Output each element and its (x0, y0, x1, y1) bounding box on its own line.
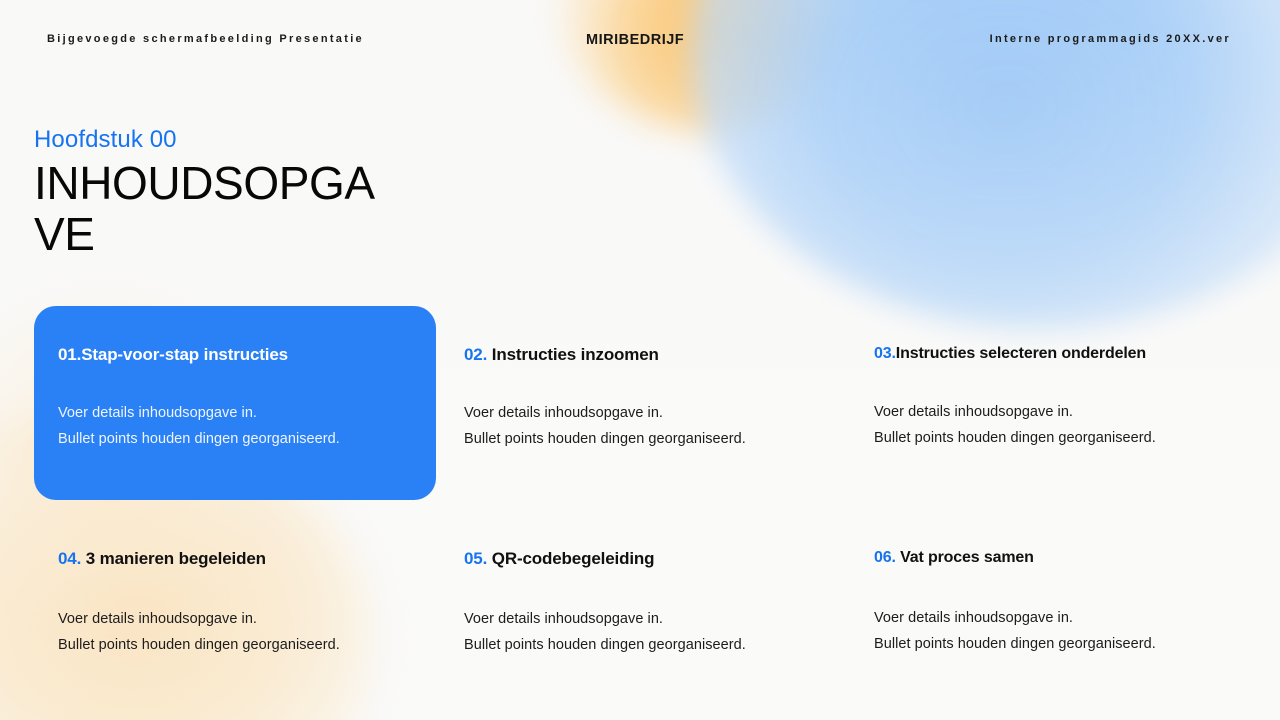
toc-item-02-body-line1: Voer details inhoudsopgave in. (464, 401, 822, 427)
toc-row-bottom: 04. 3 manieren begeleiden Voer details i… (0, 526, 1280, 716)
toc-item-06-number: 06. (874, 549, 896, 566)
toc-item-02-title: 02. Instructies inzoomen (464, 306, 822, 365)
toc-item-03-title: 03.Instructies selecteren onderdelen (874, 306, 1260, 364)
toc-item-05-body-line1: Voer details inhoudsopgave in. (464, 607, 822, 633)
toc-item-02-number: 02. (464, 345, 487, 364)
toc-item-06-title: 06. Vat proces samen (874, 526, 1260, 568)
toc-item-02-body: Voer details inhoudsopgave in. Bullet po… (464, 365, 822, 453)
toc-item-05-body: Voer details inhoudsopgave in. Bullet po… (464, 569, 822, 659)
header-right-label: Interne programmagids 20XX.ver (990, 33, 1231, 45)
toc-item-04[interactable]: 04. 3 manieren begeleiden Voer details i… (0, 526, 436, 716)
toc-item-03-number: 03. (874, 345, 896, 362)
toc-item-01-body-line1: Voer details inhoudsopgave in. (58, 401, 414, 427)
toc-item-05-title: 05. QR-codebegeleiding (464, 526, 822, 569)
toc-item-06-body-line1: Voer details inhoudsopgave in. (874, 606, 1260, 632)
toc-item-02[interactable]: 02. Instructies inzoomen Voer details in… (436, 306, 842, 500)
toc-item-03-body: Voer details inhoudsopgave in. Bullet po… (874, 364, 1260, 452)
toc-item-04-body: Voer details inhoudsopgave in. Bullet po… (58, 569, 416, 659)
toc-item-01-body: Voer details inhoudsopgave in. Bullet po… (58, 365, 414, 453)
toc-item-04-label: 3 manieren begeleiden (81, 549, 266, 568)
toc-item-01-body-line2: Bullet points houden dingen georganiseer… (58, 427, 414, 453)
chapter-eyebrow: Hoofdstuk 00 (34, 126, 394, 154)
toc-item-03[interactable]: 03.Instructies selecteren onderdelen Voe… (842, 306, 1280, 500)
toc-item-06-body: Voer details inhoudsopgave in. Bullet po… (874, 568, 1260, 658)
toc-item-03-body-line2: Bullet points houden dingen georganiseer… (874, 426, 1260, 452)
toc-item-05[interactable]: 05. QR-codebegeleiding Voer details inho… (436, 526, 842, 716)
toc-item-06[interactable]: 06. Vat proces samen Voer details inhoud… (842, 526, 1280, 716)
toc-item-03-body-line1: Voer details inhoudsopgave in. (874, 400, 1260, 426)
toc-item-02-body-line2: Bullet points houden dingen georganiseer… (464, 427, 822, 453)
brand-logo-label: MIRIBEDRIJF (586, 32, 684, 48)
page-title: INHOUDSOPGAVE (34, 158, 394, 261)
slide-header: Bijgevoegde schermafbeelding Presentatie… (0, 0, 1280, 82)
toc-item-04-body-line1: Voer details inhoudsopgave in. (58, 607, 416, 633)
toc-item-06-label: Vat proces samen (896, 549, 1034, 566)
title-block: Hoofdstuk 00 INHOUDSOPGAVE (34, 126, 394, 261)
toc-item-04-number: 04. (58, 549, 81, 568)
toc-grid: 01.Stap-voor-stap instructies Voer detai… (0, 306, 1280, 716)
toc-item-04-title: 04. 3 manieren begeleiden (58, 526, 416, 569)
toc-item-01-number: 01. (58, 345, 81, 364)
toc-item-05-label: QR-codebegeleiding (487, 549, 654, 568)
slide-root: Bijgevoegde schermafbeelding Presentatie… (0, 0, 1280, 720)
toc-item-01-label: Stap-voor-stap instructies (81, 345, 288, 364)
toc-item-05-body-line2: Bullet points houden dingen georganiseer… (464, 633, 822, 659)
toc-item-02-label: Instructies inzoomen (487, 345, 659, 364)
toc-item-01[interactable]: 01.Stap-voor-stap instructies Voer detai… (34, 306, 436, 500)
toc-item-05-number: 05. (464, 549, 487, 568)
toc-item-06-body-line2: Bullet points houden dingen georganiseer… (874, 632, 1260, 658)
header-left-label: Bijgevoegde schermafbeelding Presentatie (47, 33, 364, 45)
toc-item-01-title: 01.Stap-voor-stap instructies (58, 306, 414, 365)
toc-row-top: 01.Stap-voor-stap instructies Voer detai… (0, 306, 1280, 500)
toc-item-03-label: Instructies selecteren onderdelen (896, 345, 1146, 362)
toc-item-04-body-line2: Bullet points houden dingen georganiseer… (58, 633, 416, 659)
